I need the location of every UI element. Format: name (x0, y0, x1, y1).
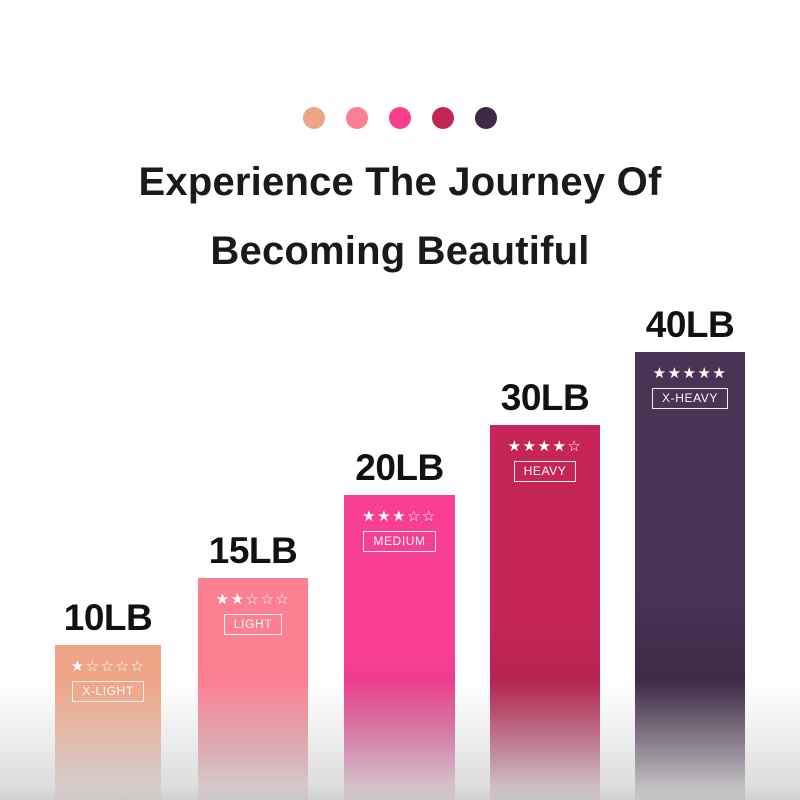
bar-column[interactable]: ★★☆☆☆LIGHT (198, 578, 308, 800)
bar-column[interactable]: ★★★★★X-HEAVY (635, 352, 745, 800)
bar-group-40lb[interactable]: 40LB★★★★★X-HEAVY (635, 352, 745, 800)
bar-weight-label: 20LB (355, 447, 443, 489)
bar-badge: ★★★☆☆MEDIUM (344, 509, 455, 552)
star-rating: ★★★★☆ (508, 439, 583, 454)
star-rating: ★★★☆☆ (362, 509, 437, 524)
resistance-band-infographic: Experience The Journey Of Becoming Beaut… (0, 0, 800, 800)
bar-column[interactable]: ★★★★☆HEAVY (490, 425, 600, 800)
bar-badge: ★★★★★X-HEAVY (635, 366, 745, 409)
resistance-bar-chart: 10LB★☆☆☆☆X-LIGHT15LB★★☆☆☆LIGHT20LB★★★☆☆M… (0, 0, 800, 800)
bar-weight-label: 40LB (646, 304, 734, 346)
resistance-level-label: LIGHT (224, 614, 282, 635)
bar-group-20lb[interactable]: 20LB★★★☆☆MEDIUM (344, 495, 455, 800)
bar-group-10lb[interactable]: 10LB★☆☆☆☆X-LIGHT (55, 645, 161, 800)
bar-badge: ★★★★☆HEAVY (490, 439, 600, 482)
bar-column[interactable]: ★★★☆☆MEDIUM (344, 495, 455, 800)
bar-group-15lb[interactable]: 15LB★★☆☆☆LIGHT (198, 578, 308, 800)
bar-weight-label: 30LB (501, 377, 589, 419)
star-rating: ★☆☆☆☆ (71, 659, 146, 674)
bar-badge: ★★☆☆☆LIGHT (198, 592, 308, 635)
resistance-level-label: MEDIUM (363, 531, 435, 552)
bar-weight-label: 15LB (209, 530, 297, 572)
bar-column[interactable]: ★☆☆☆☆X-LIGHT (55, 645, 161, 800)
bar-weight-label: 10LB (64, 597, 152, 639)
resistance-level-label: HEAVY (514, 461, 577, 482)
star-rating: ★★☆☆☆ (216, 592, 291, 607)
resistance-level-label: X-HEAVY (652, 388, 728, 409)
bar-group-30lb[interactable]: 30LB★★★★☆HEAVY (490, 425, 600, 800)
bar-fill (635, 352, 745, 800)
star-rating: ★★★★★ (653, 366, 728, 381)
bar-badge: ★☆☆☆☆X-LIGHT (55, 659, 161, 702)
resistance-level-label: X-LIGHT (72, 681, 144, 702)
